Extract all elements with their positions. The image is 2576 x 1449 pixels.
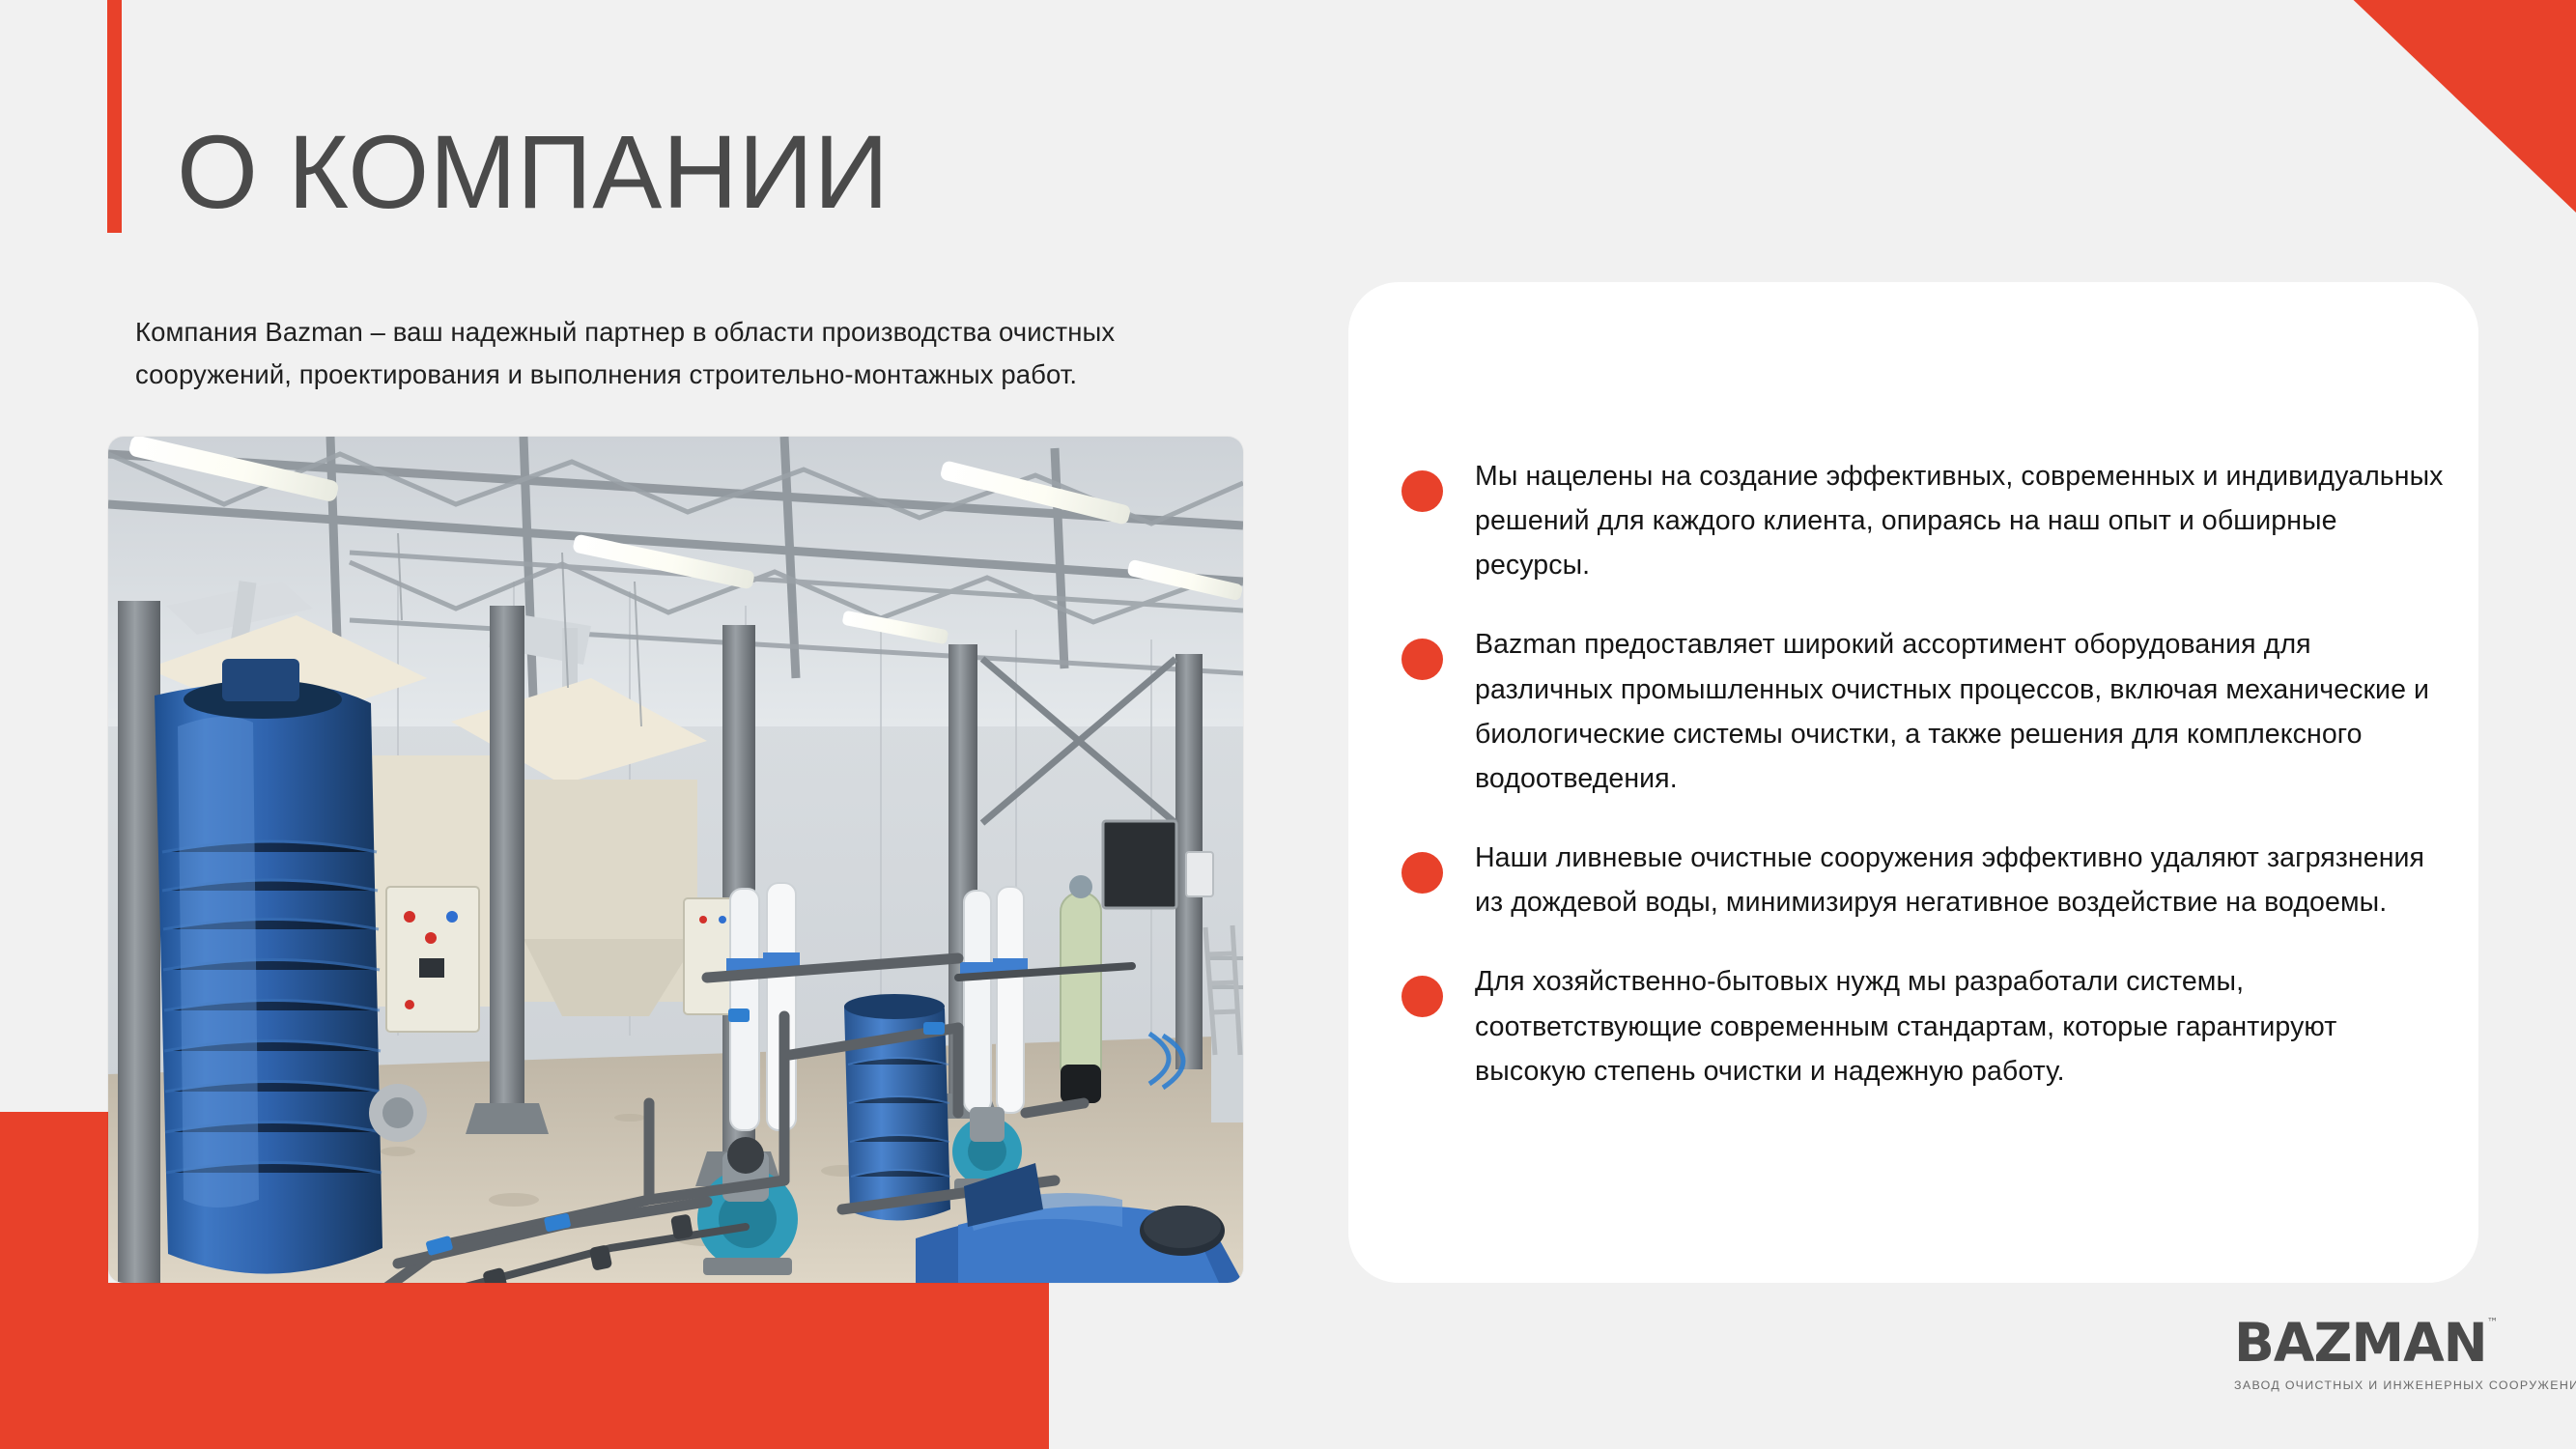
bullet-text: Для хозяйственно-бытовых нужд мы разрабо… [1475, 966, 2336, 1086]
facility-photo-illustration [108, 437, 1243, 1283]
bullet-dot-icon [1401, 470, 1443, 512]
slide-root: О КОМПАНИИ Компания Bazman – ваш надежны… [0, 0, 2576, 1449]
bullet-list: Мы нацелены на создание эффективных, сов… [1401, 454, 2445, 1094]
bottom-left-red-band [0, 1283, 1049, 1449]
logo-tagline: ЗАВОД ОЧИСТНЫХ И ИНЖЕНЕРНЫХ СООРУЖЕНИЙ [2234, 1378, 2576, 1392]
company-logo: BAZMAN ™ ЗАВОД ОЧИСТНЫХ И ИНЖЕНЕРНЫХ СОО… [2234, 1317, 2576, 1392]
page-title: О КОМПАНИИ [177, 120, 890, 224]
bullet-dot-icon [1401, 976, 1443, 1017]
intro-paragraph: Компания Bazman – ваш надежный партнер в… [135, 311, 1198, 397]
list-item: Наши ливневые очистные сооружения эффект… [1401, 836, 2445, 924]
bullet-text: Наши ливневые очистные сооружения эффект… [1475, 842, 2424, 918]
facility-photo [108, 437, 1243, 1283]
corner-triangle-decoration [2267, 0, 2576, 213]
title-accent-bar [107, 0, 122, 233]
list-item: Для хозяйственно-бытовых нужд мы разрабо… [1401, 959, 2445, 1093]
bullet-dot-icon [1401, 852, 1443, 894]
list-item: Мы нацелены на создание эффективных, сов… [1401, 454, 2445, 587]
list-item: Bazman предоставляет широкий ассортимент… [1401, 622, 2445, 801]
bullet-text: Мы нацелены на создание эффективных, сов… [1475, 461, 2444, 581]
logo-wordmark: BAZMAN ™ [2234, 1317, 2487, 1370]
trademark-icon: ™ [2487, 1317, 2498, 1328]
bullet-dot-icon [1401, 639, 1443, 680]
logo-wordmark-text: BAZMAN [2234, 1312, 2487, 1374]
bullet-text: Bazman предоставляет широкий ассортимент… [1475, 629, 2429, 793]
